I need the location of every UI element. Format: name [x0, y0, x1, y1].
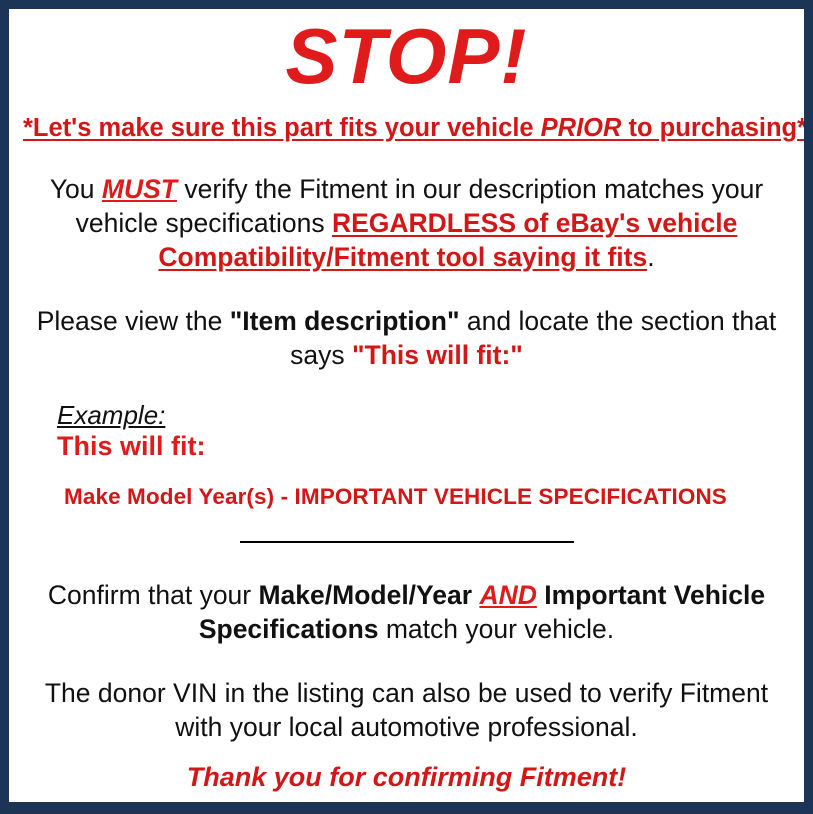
stop-headline: STOP! — [23, 9, 790, 98]
example-label-row: Example: — [57, 401, 790, 430]
example-label: Example: — [57, 401, 165, 430]
this-will-fit-quote: "This will fit:" — [352, 340, 523, 370]
item-description-emphasis: "Item description" — [230, 306, 460, 336]
example-fit-heading: This will fit: — [57, 429, 790, 462]
subtitle-tail-text: to purchasing* — [621, 114, 807, 142]
subtitle-lead-text: *Let's make sure this part fits your veh… — [23, 114, 541, 142]
horizontal-divider — [240, 541, 574, 543]
make-model-year-emphasis: Make/Model/Year — [258, 580, 472, 610]
donor-vin-paragraph: The donor VIN in the listing can also be… — [23, 647, 790, 745]
divider-row — [23, 510, 790, 551]
view-text-part1: Please view the — [37, 306, 230, 336]
must-text-part1: You — [50, 174, 102, 204]
must-text-part3: . — [647, 242, 654, 272]
item-description-paragraph: Please view the "Item description" and l… — [23, 275, 790, 373]
and-emphasis: AND — [479, 580, 536, 610]
example-spec-line: Make Model Year(s) - IMPORTANT VEHICLE S… — [57, 462, 790, 510]
notice-content: STOP! *Let's make sure this part fits yo… — [9, 9, 804, 802]
subtitle-prior-emphasis: PRIOR — [541, 114, 622, 142]
fitment-subtitle: *Let's make sure this part fits your veh… — [23, 98, 790, 144]
fitment-notice-card: STOP! *Let's make sure this part fits yo… — [0, 0, 813, 814]
confirm-paragraph: Confirm that your Make/Model/Year AND Im… — [23, 551, 790, 647]
closing-thank-you: Thank you for confirming Fitment! — [23, 745, 790, 793]
must-verify-paragraph: You MUST verify the Fitment in our descr… — [23, 143, 790, 275]
confirm-text-part4: match your vehicle. — [379, 614, 615, 644]
confirm-text-part1: Confirm that your — [48, 580, 259, 610]
example-block: Example: This will fit: Make Model Year(… — [23, 373, 790, 511]
must-emphasis: MUST — [102, 174, 177, 204]
